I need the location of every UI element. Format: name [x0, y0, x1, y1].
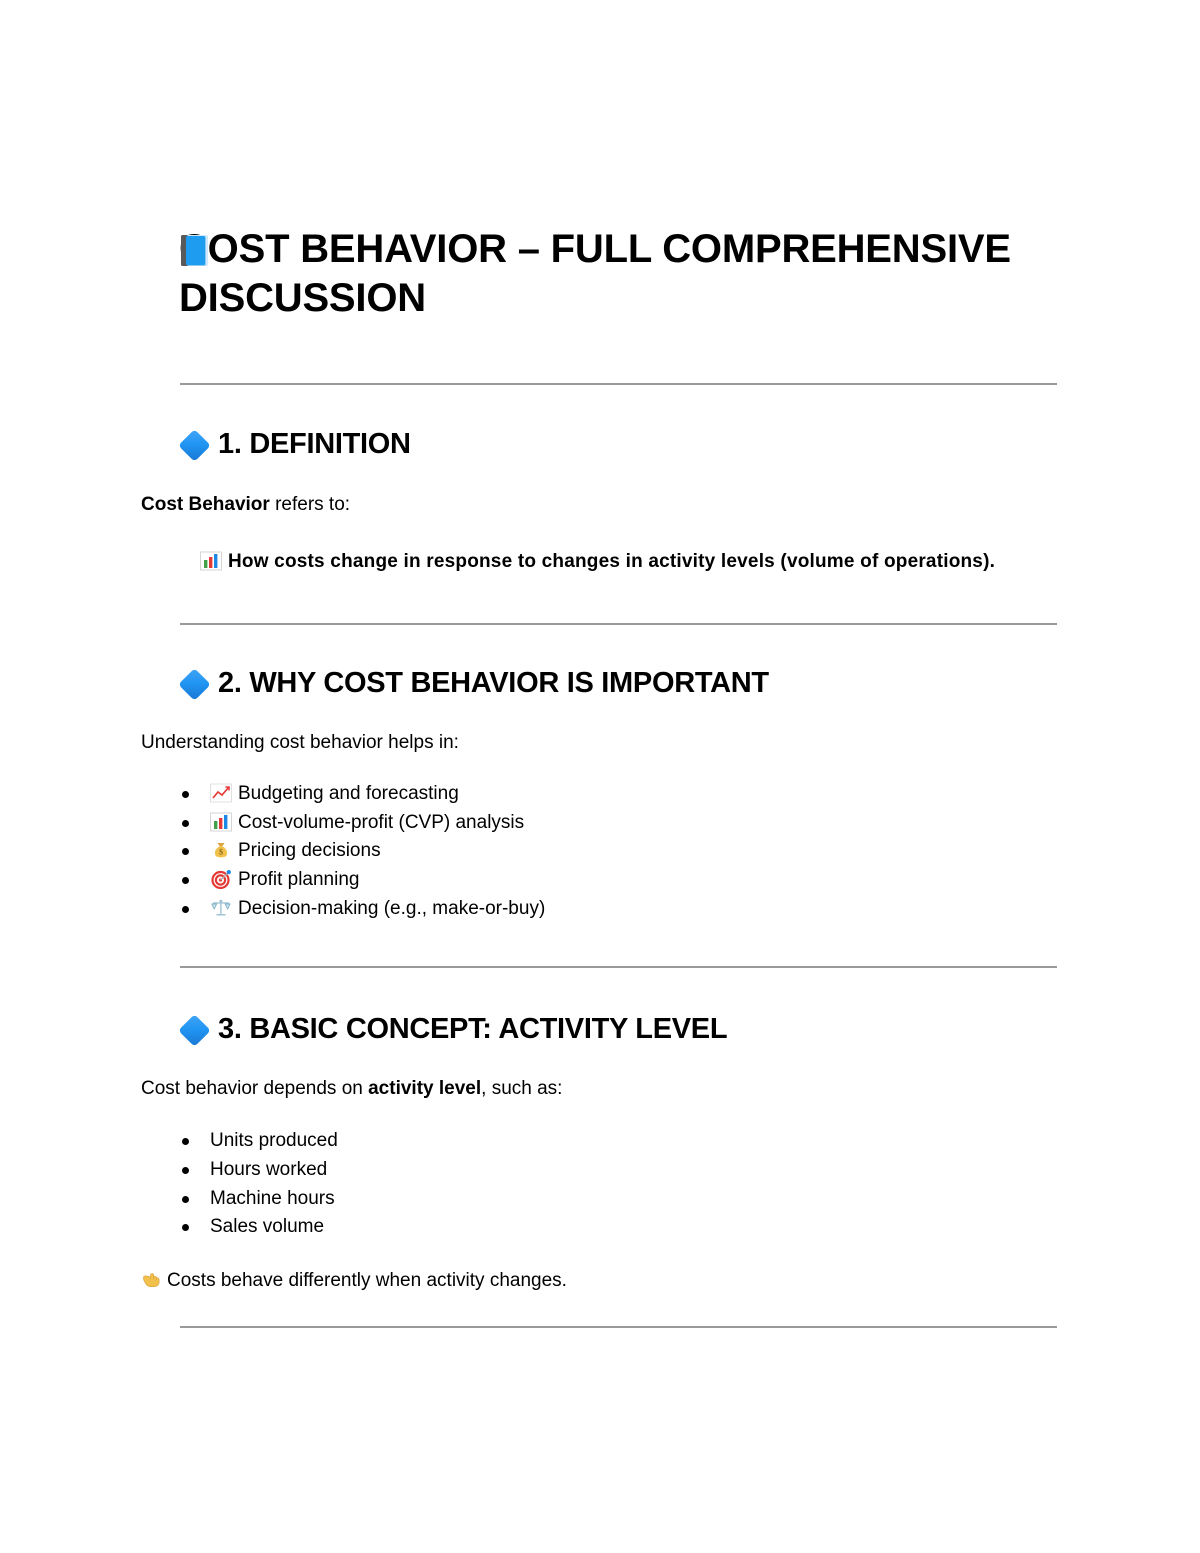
spacer-s3b — [141, 1103, 1066, 1127]
list-item: $ Pricing decisions — [141, 837, 1066, 866]
spacer-s3a — [141, 1047, 1066, 1075]
bar-chart-icon — [210, 812, 233, 832]
spacer-s1b — [141, 518, 1066, 547]
spacer-after-rule-3 — [141, 968, 1066, 1011]
section-heading-text: 3. BASIC CONCEPT: ACTIVITY LEVEL — [180, 1011, 727, 1047]
bullet-dot — [182, 1138, 189, 1145]
bullet-dot — [182, 820, 189, 827]
definition-intro-rest: refers to: — [270, 494, 350, 515]
list-item-label: Pricing decisions — [238, 840, 381, 861]
spacer-s1c — [141, 577, 1066, 623]
blue-diamond-icon — [180, 431, 210, 461]
activity-intro-post: , such as: — [481, 1078, 562, 1099]
page-title: COST BEHAVIOR – FULL COMPREHENSIVE DISCU… — [141, 225, 1066, 323]
list-item: Hours worked — [141, 1156, 1066, 1185]
spacer-s3c — [141, 1242, 1066, 1267]
bullet-dot — [182, 1167, 189, 1174]
bullet-dot — [182, 906, 189, 913]
activity-level-intro: Cost behavior depends on activity level,… — [141, 1075, 1066, 1103]
list-item-label: Units produced — [210, 1130, 338, 1151]
list-item: Profit planning — [141, 866, 1066, 895]
spacer-s2a — [141, 701, 1066, 729]
section-heading-importance: 2. WHY COST BEHAVIOR IS IMPORTANT — [141, 665, 1066, 701]
bullet-dot — [182, 848, 189, 855]
spacer-s2c — [141, 924, 1066, 966]
list-item: Budgeting and forecasting — [141, 780, 1066, 809]
importance-list: Budgeting and forecasting Cost-volume-pr… — [141, 780, 1066, 924]
list-item: Units produced — [141, 1127, 1066, 1156]
section-heading-text: 2. WHY COST BEHAVIOR IS IMPORTANT — [180, 665, 769, 701]
bullet-dot — [182, 877, 189, 884]
list-item-label: Hours worked — [210, 1159, 327, 1180]
spacer-s2b — [141, 757, 1066, 780]
list-item-label: Machine hours — [210, 1188, 335, 1209]
activity-level-callout-text: Costs behave differently when activity c… — [167, 1270, 567, 1291]
spacer-title — [141, 323, 1066, 383]
spacer-after-rule-1 — [141, 385, 1066, 426]
list-item-label: Profit planning — [238, 869, 359, 890]
activity-intro-pre: Cost behavior depends on — [141, 1078, 368, 1099]
balance-scale-icon — [210, 898, 233, 918]
target-icon — [210, 869, 233, 889]
definition-intro: Cost Behavior refers to: — [141, 491, 1066, 519]
list-item: Cost-volume-profit (CVP) analysis — [141, 809, 1066, 838]
activity-level-list: Units produced Hours worked Machine hour… — [141, 1127, 1066, 1243]
list-item: Decision-making (e.g., make-or-buy) — [141, 895, 1066, 924]
money-bag-icon: $ — [210, 840, 233, 860]
svg-text:$: $ — [219, 848, 223, 857]
pointing-right-icon — [141, 1270, 163, 1289]
activity-level-callout: Costs behave differently when activity c… — [141, 1267, 1066, 1295]
blue-diamond-icon — [180, 1016, 210, 1046]
bar-chart-icon — [200, 551, 223, 571]
document-page: COST BEHAVIOR – FULL COMPREHENSIVE DISCU… — [0, 0, 1200, 1553]
chart-increasing-icon — [210, 783, 233, 803]
document-content: COST BEHAVIOR – FULL COMPREHENSIVE DISCU… — [141, 225, 1066, 1328]
bullet-dot — [182, 1224, 189, 1231]
spacer-after-rule-2 — [141, 625, 1066, 665]
spacer-s3d — [141, 1295, 1066, 1326]
definition-intro-bold: Cost Behavior — [141, 494, 270, 515]
spacer-s1a — [141, 462, 1066, 491]
section-heading-activity-level: 3. BASIC CONCEPT: ACTIVITY LEVEL — [141, 1011, 1066, 1047]
definition-blockquote-text: How costs change in response to changes … — [228, 551, 995, 572]
list-item-label: Sales volume — [210, 1216, 324, 1237]
blue-book-icon — [180, 231, 210, 265]
activity-intro-bold: activity level — [368, 1078, 481, 1099]
page-title-text: COST BEHAVIOR – FULL COMPREHENSIVE DISCU… — [179, 227, 1011, 320]
bullet-dot — [182, 1196, 189, 1203]
definition-blockquote: How costs change in response to changes … — [141, 547, 1021, 576]
importance-intro: Understanding cost behavior helps in: — [141, 729, 1066, 757]
list-item: Sales volume — [141, 1213, 1066, 1242]
section-heading-text: 1. DEFINITION — [180, 426, 411, 462]
blue-diamond-icon — [180, 670, 210, 700]
bullet-dot — [182, 791, 189, 798]
list-item-label: Cost-volume-profit (CVP) analysis — [238, 812, 524, 833]
list-item-label: Decision-making (e.g., make-or-buy) — [238, 898, 545, 919]
list-item: Machine hours — [141, 1185, 1066, 1214]
section-heading-definition: 1. DEFINITION — [141, 426, 1066, 462]
list-item-label: Budgeting and forecasting — [238, 783, 459, 804]
divider-4 — [180, 1326, 1057, 1328]
